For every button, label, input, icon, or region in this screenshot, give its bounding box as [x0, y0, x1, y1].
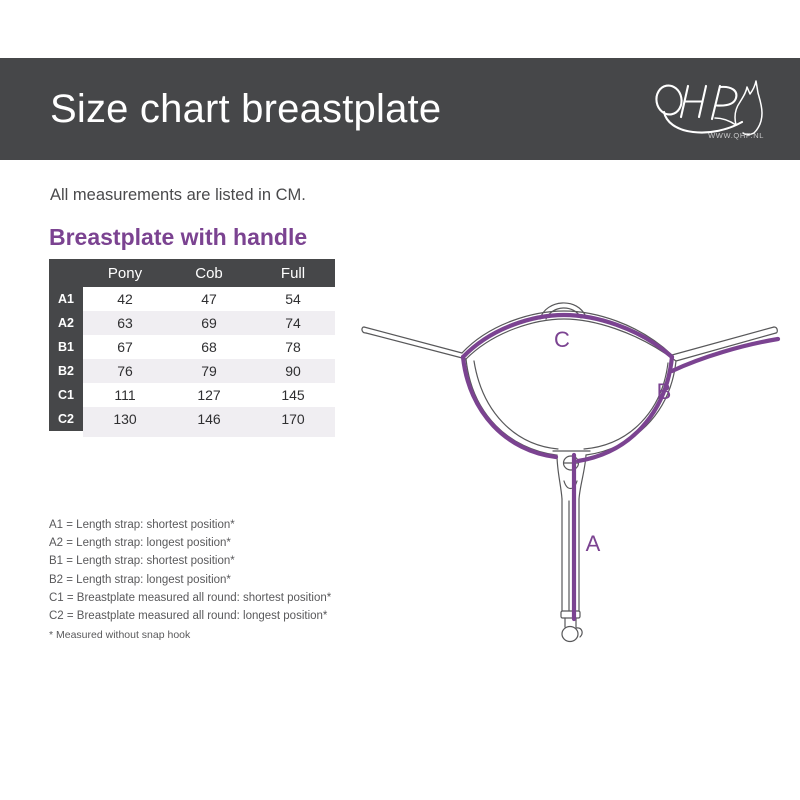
left-lower-inner [474, 361, 558, 449]
column-header-full: Full [251, 259, 335, 287]
legend-item-b1: B1 = Length strap: shortest position* [49, 552, 331, 570]
page-title: Size chart breastplate [50, 89, 441, 129]
row-label-c1: C1 [49, 383, 83, 407]
row-label-b1: B1 [49, 335, 83, 359]
left-strap-top-edge [364, 327, 462, 353]
breastplate-illustration: C B A [350, 275, 790, 665]
right-lower-outer [586, 361, 676, 455]
cell-a2-cob: 69 [167, 311, 251, 335]
legend-item-a2: A2 = Length strap: longest position* [49, 534, 331, 552]
right-strap-bottom-edge [676, 333, 776, 361]
column-header-pony: Pony [83, 259, 167, 287]
cell-a1-pony: 42 [83, 287, 167, 311]
label-b: B [657, 379, 672, 404]
measurement-unit-note: All measurements are listed in CM. [50, 186, 306, 205]
measure-line-b-curve [578, 357, 672, 461]
table-row: B2 76 79 90 [49, 359, 335, 383]
table-header: Pony Cob Full [49, 259, 335, 287]
cell-b2-full: 90 [251, 359, 335, 383]
neckband-inner [466, 319, 676, 361]
table-header-row: Pony Cob Full [49, 259, 335, 287]
qhp-logo: WWW.QHP.NL [650, 73, 770, 145]
header-bar: Size chart breastplate [0, 58, 800, 160]
label-c: C [554, 327, 570, 352]
legend-item-b2: B2 = Length strap: longest position* [49, 571, 331, 589]
label-a: A [586, 531, 601, 556]
cell-b2-cob: 79 [167, 359, 251, 383]
table-corner-cell [49, 259, 83, 287]
cell-b1-pony: 67 [83, 335, 167, 359]
cell-a1-cob: 47 [167, 287, 251, 311]
measure-line-c-left-return [463, 357, 556, 457]
row-label-a2: A2 [49, 311, 83, 335]
table-row: A2 63 69 74 [49, 311, 335, 335]
legend-item-c1: C1 = Breastplate measured all round: sho… [49, 589, 331, 607]
size-chart-table: Pony Cob Full A1 42 47 54 A2 63 69 74 B1… [49, 259, 335, 431]
legend-footnote: * Measured without snap hook [49, 626, 331, 644]
left-strap-bottom-edge [366, 333, 466, 359]
measurement-lines [463, 315, 778, 619]
cell-c1-cob: 127 [167, 383, 251, 407]
column-header-cob: Cob [167, 259, 251, 287]
legend-list: A1 = Length strap: shortest position* A2… [49, 516, 331, 644]
brand-url-text: WWW.QHP.NL [708, 131, 764, 140]
funnel-left [557, 455, 562, 499]
row-label-a1: A1 [49, 287, 83, 311]
row-label-b2: B2 [49, 359, 83, 383]
cell-a2-pony: 63 [83, 311, 167, 335]
cell-b1-full: 78 [251, 335, 335, 359]
cell-b1-cob: 68 [167, 335, 251, 359]
cell-b2-pony: 76 [83, 359, 167, 383]
measure-line-b-strap [672, 339, 778, 371]
right-strap-tip [774, 327, 777, 333]
cell-a1-full: 54 [251, 287, 335, 311]
row-label-c2: C2 [49, 407, 83, 431]
snap-hook-bar [561, 611, 580, 618]
table-bottom-band [83, 427, 335, 437]
legend-item-c2: C2 = Breastplate measured all round: lon… [49, 607, 331, 625]
breastplate-diagram: C B A [350, 275, 790, 665]
legend-item-a1: A1 = Length strap: shortest position* [49, 516, 331, 534]
table-row: B1 67 68 78 [49, 335, 335, 359]
table-body: A1 42 47 54 A2 63 69 74 B1 67 68 78 B2 7… [49, 287, 335, 431]
cell-c1-pony: 111 [83, 383, 167, 407]
snap-hook-eye [562, 627, 578, 642]
cell-c1-full: 145 [251, 383, 335, 407]
section-heading: Breastplate with handle [49, 224, 307, 251]
table-row: C1 111 127 145 [49, 383, 335, 407]
cell-a2-full: 74 [251, 311, 335, 335]
table-row: A1 42 47 54 [49, 287, 335, 311]
